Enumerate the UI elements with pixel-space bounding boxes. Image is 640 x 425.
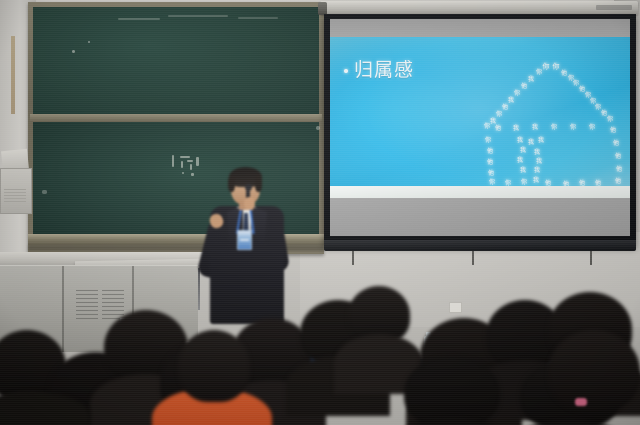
slide-glyph: 我 [508,98,514,104]
chalk-dot-4 [42,190,47,194]
slide-glyph: 他 [521,84,527,90]
chalk-smudge-2 [168,15,228,17]
slide-glyph: 你 [536,70,542,76]
slide-glyph: 你 [514,91,520,97]
presentation-slide: 归属感 你你你他我你他你你他我你他你你你我他你你他我我你你你他你我我我他我我他我… [330,37,630,198]
slide-glyph: 我 [517,158,523,164]
slide-glyph: 我 [520,148,526,154]
wall-outlet-right [449,302,462,313]
screen-top-margin [330,19,630,37]
presenter-id-badge [237,230,252,250]
slide-glyph: 他 [487,160,493,166]
slide-glyph: 他 [616,167,622,173]
screen-roller-housing [320,1,638,15]
slide-character-house-graphic: 你你你他我你他你你他我你他你你你我他你你他我我你你你他你我我我他我我他我我他他我… [330,37,630,198]
chalk-dot-1 [72,50,75,53]
slide-glyph: 我 [533,178,539,184]
slide-glyph: 他 [488,171,494,177]
slide-glyph: 我 [520,168,526,174]
blackboard-panel-top [33,7,319,116]
slide-glyph: 你 [484,124,490,130]
chalk-smudge-3 [238,17,278,19]
audience-head-pink-clip [548,330,640,412]
slide-glyph: 你 [543,64,550,71]
audience-head [404,356,500,425]
cabinet-vent-1 [76,290,98,322]
presenter-hair-side-right [255,175,262,192]
screen-surface: 归属感 你你你他我你他你你他我你他你你你我他你你他我我你你你他你我我我他我我他我… [330,19,630,236]
screen-bottom-margin [330,198,630,236]
slide-footer-band [330,186,630,198]
slide-glyph: 他 [615,179,621,185]
wall-speaker-unit [0,168,32,214]
chalk-smudge-1 [118,18,160,20]
slide-glyph: 他 [610,128,616,134]
slide-glyph: 我 [538,138,544,144]
slide-glyph: 你 [485,138,491,144]
slide-glyph: 我 [517,138,523,144]
screen-bottom-weight-bar [324,240,636,251]
slide-glyph: 他 [613,141,619,147]
classroom-photo: 归属感 你你你他我你他你你他我你他你你你我他你你他我我你你你他你我我我他我我他我… [0,0,640,425]
slide-glyph: 我 [532,125,538,131]
slide-glyph: 我 [534,168,540,174]
slide-glyph: 你 [553,64,560,71]
slide-glyph: 他 [502,105,508,111]
slide-glyph: 他 [495,126,501,132]
slide-glyph: 你 [570,125,576,131]
presenter-hair-side-left [228,175,235,192]
microphone-head [245,184,252,191]
wall-trim-strip [11,36,15,114]
slide-glyph: 你 [589,125,595,131]
slide-glyph: 我 [528,77,534,83]
slide-glyph: 我 [513,126,519,132]
slide-glyph: 他 [487,149,493,155]
cabinet-seam-1 [62,266,64,352]
screen-roller-label [596,5,632,10]
screen-mount-legs [352,251,592,265]
blackboard-divider [30,114,322,122]
chalk-dot-2 [88,41,90,43]
chalk-dot-3 [316,126,320,130]
slide-glyph: 你 [551,125,557,131]
slide-glyph: 我 [528,140,534,146]
slide-glyph: 他 [561,71,567,77]
hair-clip-icon [575,398,587,406]
presenter-hand-holding-mic [244,197,255,210]
presenter-figure [196,158,302,343]
slide-glyph: 你 [607,117,613,123]
slide-glyph: 我 [534,150,540,156]
slide-glyph: 你 [496,112,502,118]
slide-glyph: 他 [615,154,621,160]
audience-head-orange [178,330,250,402]
slide-glyph: 我 [536,159,542,165]
